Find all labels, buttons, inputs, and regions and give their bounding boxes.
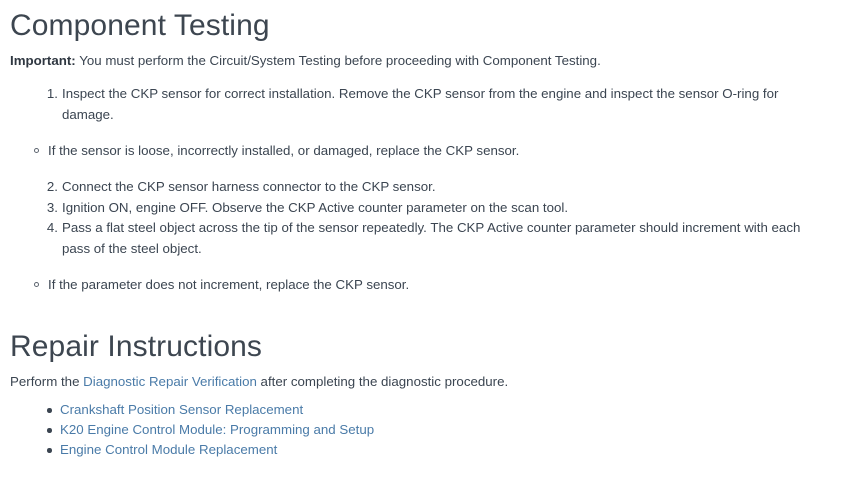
procedure-step-4-text: Pass a flat steel object across the tip … [62,220,800,256]
procedure-step-2: Connect the CKP sensor harness connector… [62,177,847,198]
repair-intro-prefix: Perform the [10,374,83,389]
procedure-step-3: Ignition ON, engine OFF. Observe the CKP… [62,198,847,219]
important-note: Important: You must perform the Circuit/… [10,52,847,70]
substep-1-text: If the sensor is loose, incorrectly inst… [48,143,519,158]
procedure-step-2-text: Connect the CKP sensor harness connector… [62,179,436,194]
substep-2-text: If the parameter does not increment, rep… [48,277,409,292]
procedure-step-3-text: Ignition ON, engine OFF. Observe the CKP… [62,200,568,215]
repair-link-list: Crankshaft Position Sensor Replacement K… [10,400,847,460]
procedure-list-part-2: Connect the CKP sensor harness connector… [10,177,847,259]
list-item: Engine Control Module Replacement [60,440,847,460]
section-component-testing: Component Testing Important: You must pe… [10,8,847,295]
important-note-text: You must perform the Circuit/System Test… [76,53,601,68]
list-item: Crankshaft Position Sensor Replacement [60,400,847,420]
substep-list-2: If the parameter does not increment, rep… [10,275,847,295]
repair-intro-text: Perform the Diagnostic Repair Verificati… [10,373,847,391]
document-page: Component Testing Important: You must pe… [0,0,857,479]
list-item: K20 Engine Control Module: Programming a… [60,420,847,440]
procedure-step-1-text: Inspect the CKP sensor for correct insta… [62,86,778,122]
repair-intro-suffix: after completing the diagnostic procedur… [257,374,508,389]
link-k20-ecm-programming-and-setup[interactable]: K20 Engine Control Module: Programming a… [60,422,374,437]
procedure-step-1: Inspect the CKP sensor for correct insta… [62,84,847,125]
procedure-step-4: Pass a flat steel object across the tip … [62,218,847,259]
repair-instructions-title: Repair Instructions [10,329,847,365]
substep-list-1: If the sensor is loose, incorrectly inst… [10,141,847,161]
page-title: Component Testing [10,8,847,44]
section-repair-instructions: Repair Instructions Perform the Diagnost… [10,329,847,460]
procedure-list-part-1: Inspect the CKP sensor for correct insta… [10,84,847,125]
link-crankshaft-position-sensor-replacement[interactable]: Crankshaft Position Sensor Replacement [60,402,303,417]
important-label: Important: [10,53,76,68]
link-diagnostic-repair-verification[interactable]: Diagnostic Repair Verification [83,374,257,389]
substep-item: If the parameter does not increment, rep… [48,275,847,295]
substep-item: If the sensor is loose, incorrectly inst… [48,141,847,161]
link-engine-control-module-replacement[interactable]: Engine Control Module Replacement [60,442,277,457]
